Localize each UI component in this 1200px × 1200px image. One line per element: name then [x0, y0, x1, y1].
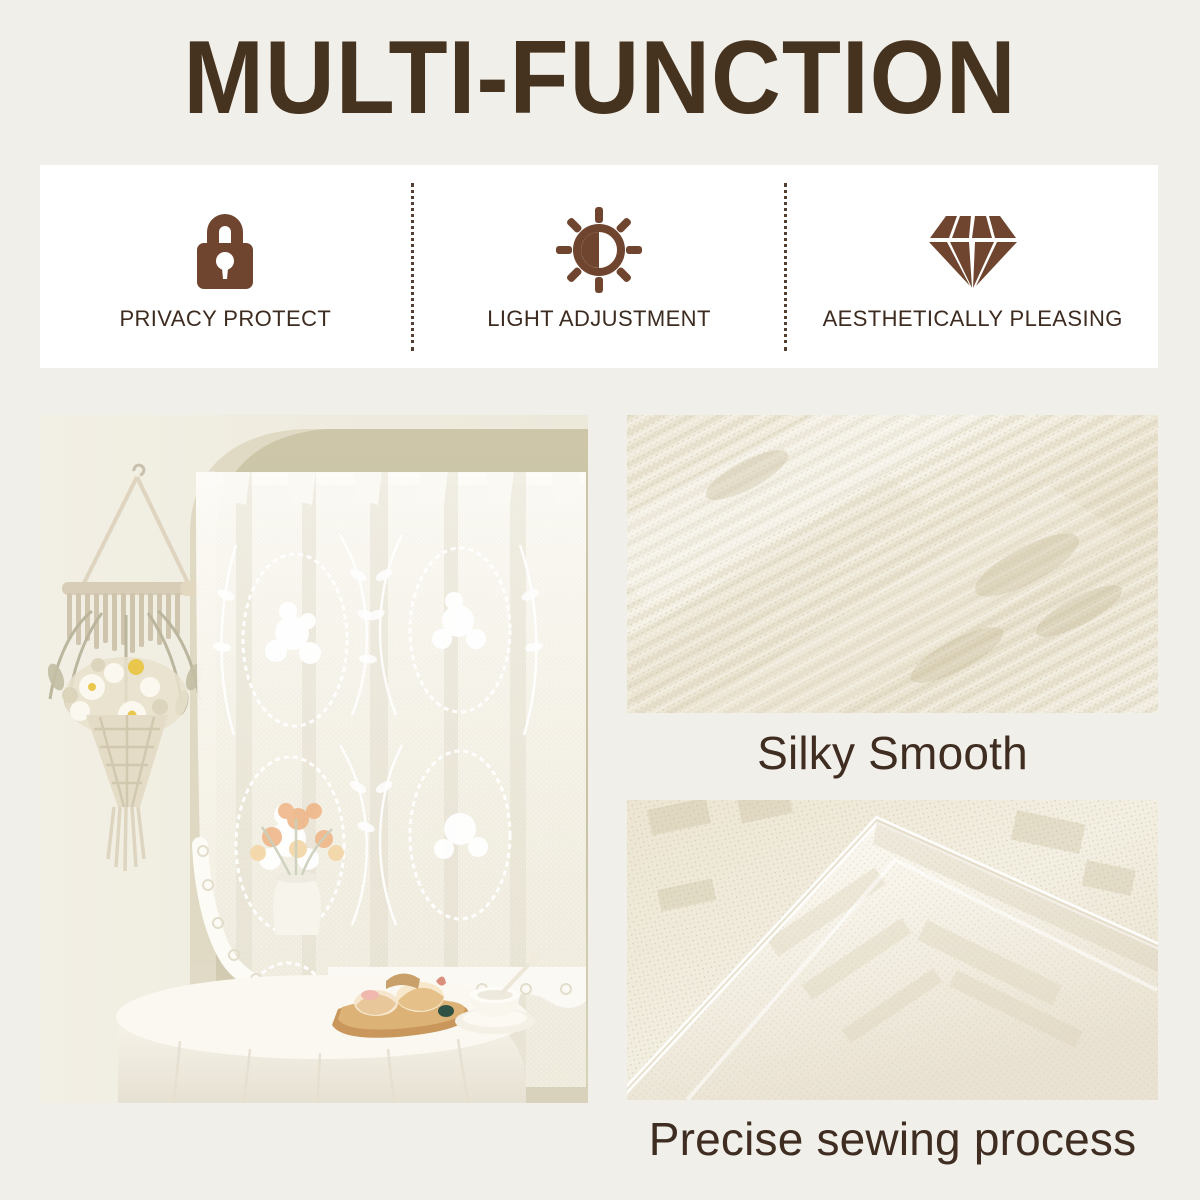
feature-light-adjustment[interactable]: LIGHT ADJUSTMENT — [414, 165, 785, 368]
feature-label-light-adjustment: LIGHT ADJUSTMENT — [487, 306, 711, 332]
feature-highlights-card: PRIVACY PROTECT — [40, 165, 1158, 368]
feature-privacy-protect[interactable]: PRIVACY PROTECT — [40, 165, 411, 368]
lifestyle-photo-lace-curtain-room-scene — [40, 415, 588, 1103]
product-feature-page: MULTI-FUNCTION PRIVACY PROTECT — [0, 0, 1200, 1200]
padlock-icon — [189, 208, 261, 292]
caption-precise-sewing-process: Precise sewing process — [600, 1112, 1185, 1166]
caption-silky-smooth: Silky Smooth — [627, 726, 1158, 780]
diamond-gem-icon — [926, 208, 1020, 292]
page-title: MULTI-FUNCTION — [42, 22, 1158, 134]
feature-label-aesthetically-pleasing: AESTHETICALLY PLEASING — [823, 306, 1123, 332]
feature-aesthetically-pleasing[interactable]: AESTHETICALLY PLEASING — [787, 165, 1158, 368]
sun-brightness-icon — [556, 208, 642, 292]
detail-photo-folded-lace-hem-closeup — [627, 800, 1158, 1100]
feature-label-privacy-protect: PRIVACY PROTECT — [119, 306, 331, 332]
detail-photo-lace-weave-closeup — [627, 415, 1158, 713]
